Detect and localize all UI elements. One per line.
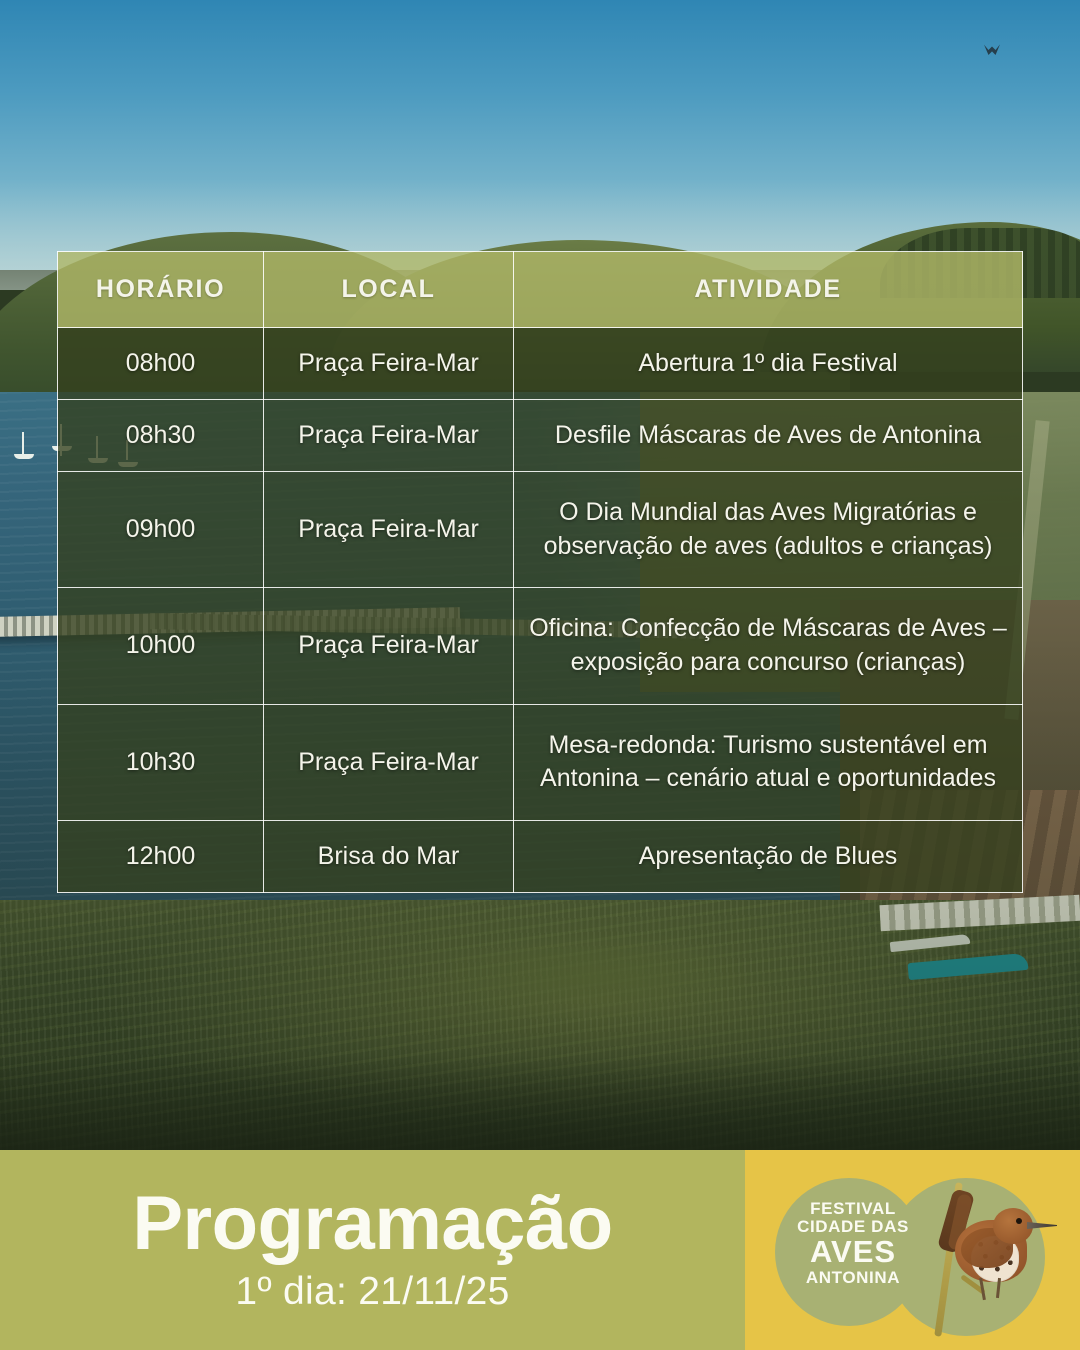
cell-time: 09h00 [58,472,264,588]
cell-place: Praça Feira-Mar [264,400,514,472]
bird-leg [996,1278,1001,1298]
bird-eye [1016,1218,1022,1224]
table-head: HORÁRIO LOCAL ATIVIDADE [58,252,1023,328]
logo-line-antonina: ANTONINA [793,1269,913,1287]
cell-place: Praça Feira-Mar [264,328,514,400]
cell-activity: Desfile Máscaras de Aves de Antonina [514,400,1023,472]
bird-illustration-icon [915,1174,1065,1339]
logo-line-cidade-das: CIDADE DAS [793,1218,913,1236]
table-header-row: HORÁRIO LOCAL ATIVIDADE [58,252,1023,328]
cell-place: Brisa do Mar [264,820,514,892]
cell-activity: Oficina: Confecção de Máscaras de Aves –… [514,588,1023,704]
table-row: 08h30 Praça Feira-Mar Desfile Máscaras d… [58,400,1023,472]
table-row: 12h00 Brisa do Mar Apresentação de Blues [58,820,1023,892]
bottom-banner: Programação 1º dia: 21/11/25 FESTIVAL CI… [0,1150,1080,1350]
cell-time: 10h30 [58,704,264,820]
column-header-atividade: ATIVIDADE [514,252,1023,328]
cell-place: Praça Feira-Mar [264,704,514,820]
cell-place: Praça Feira-Mar [264,472,514,588]
festival-logo: FESTIVAL CIDADE DAS AVES ANTONINA [765,1164,1065,1336]
cell-activity: Abertura 1º dia Festival [514,328,1023,400]
cell-activity: Mesa-redonda: Turismo sustentável em Ant… [514,704,1023,820]
logo-text-block: FESTIVAL CIDADE DAS AVES ANTONINA [793,1200,913,1286]
schedule-table-container: HORÁRIO LOCAL ATIVIDADE 08h00 Praça Feir… [57,251,1023,893]
bird-beak [1027,1222,1057,1229]
cell-activity: Apresentação de Blues [514,820,1023,892]
banner-text-block: Programação 1º dia: 21/11/25 [0,1150,745,1350]
logo-panel: FESTIVAL CIDADE DAS AVES ANTONINA [745,1150,1080,1350]
table-row: 08h00 Praça Feira-Mar Abertura 1º dia Fe… [58,328,1023,400]
cell-time: 08h00 [58,328,264,400]
column-header-local: LOCAL [264,252,514,328]
cell-time: 08h30 [58,400,264,472]
cell-time: 12h00 [58,820,264,892]
schedule-table: HORÁRIO LOCAL ATIVIDADE 08h00 Praça Feir… [57,251,1023,893]
column-header-horario: HORÁRIO [58,252,264,328]
page-subtitle: 1º dia: 21/11/25 [235,1270,509,1314]
table-row: 10h00 Praça Feira-Mar Oficina: Confecção… [58,588,1023,704]
logo-line-festival: FESTIVAL [793,1200,913,1218]
cell-time: 10h00 [58,588,264,704]
logo-line-aves: AVES [793,1236,913,1268]
table-row: 10h30 Praça Feira-Mar Mesa-redonda: Turi… [58,704,1023,820]
table-body: 08h00 Praça Feira-Mar Abertura 1º dia Fe… [58,328,1023,893]
page-title: Programação [132,1186,612,1262]
cell-activity: O Dia Mundial das Aves Migratórias e obs… [514,472,1023,588]
table-row: 09h00 Praça Feira-Mar O Dia Mundial das … [58,472,1023,588]
cell-place: Praça Feira-Mar [264,588,514,704]
